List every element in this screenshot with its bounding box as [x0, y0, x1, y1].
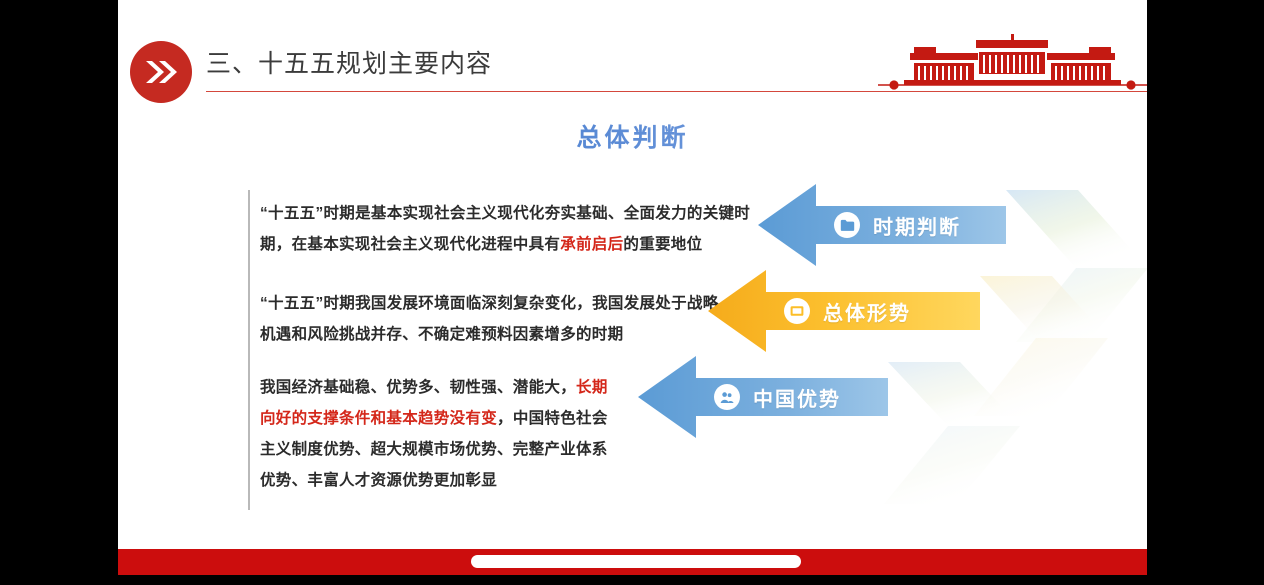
arrow-label-china-advantage: 中国优势	[714, 354, 841, 440]
paragraph-china-advantage: 我国经济基础稳、优势多、韧性强、潜能大，长期向好的支撑条件和基本趋势没有变，中国…	[260, 372, 620, 496]
footer-bar	[118, 549, 1147, 575]
double-chevron-right-icon	[144, 59, 178, 85]
arrow-text-period-judgement: 时期判断	[873, 211, 961, 240]
arrow-text-overall-situation: 总体形势	[823, 297, 911, 326]
arrow-shape-period-judgement	[758, 182, 1147, 372]
screen: 三、十五五规划主要内容	[0, 0, 1264, 585]
paragraph-period-judgement: “十五五”时期是基本实现社会主义现代化夯实基础、全面发力的关键时期，在基本实现社…	[260, 198, 780, 260]
great-hall-building-icon	[878, 28, 1147, 94]
slide-progress-indicator[interactable]	[471, 555, 801, 568]
arrow-item-period-judgement: 时期判断	[758, 182, 1147, 268]
page-title: 三、十五五规划主要内容	[206, 44, 492, 80]
paragraph-overall-situation: “十五五”时期我国发展环境面临深刻复杂变化，我国发展处于战略机遇和风险挑战并存、…	[260, 288, 730, 350]
people-icon	[714, 384, 740, 410]
monitor-icon	[784, 298, 810, 324]
arrow-text-china-advantage: 中国优势	[753, 383, 841, 412]
arrow-item-overall-situation: 总体形势	[708, 268, 1108, 354]
body-text: 我国经济基础稳、优势多、韧性强、潜能大，	[260, 379, 576, 396]
content-area: “十五五”时期是基本实现社会主义现代化夯实基础、全面发力的关键时期，在基本实现社…	[118, 170, 1147, 530]
arrow-label-period-judgement: 时期判断	[834, 182, 961, 268]
text-divider-line	[248, 190, 250, 510]
arrow-shape-overall-situation	[708, 268, 1108, 458]
footer-black-edge	[118, 575, 1147, 585]
body-text: 的重要地位	[623, 236, 702, 253]
highlighted-text: 承前启后	[560, 236, 623, 253]
body-text: “十五五”时期我国发展环境面临深刻复杂变化，我国发展处于战略机遇和风险挑战并存、…	[260, 295, 719, 343]
arrow-shape-china-advantage	[638, 354, 1038, 544]
section-subtitle: 总体判断	[118, 118, 1147, 154]
header-badge	[130, 41, 192, 103]
presentation-slide: 三、十五五规划主要内容	[118, 0, 1147, 585]
arrow-label-overall-situation: 总体形势	[784, 268, 911, 354]
folder-icon	[834, 212, 860, 238]
arrow-item-china-advantage: 中国优势	[638, 354, 1038, 440]
